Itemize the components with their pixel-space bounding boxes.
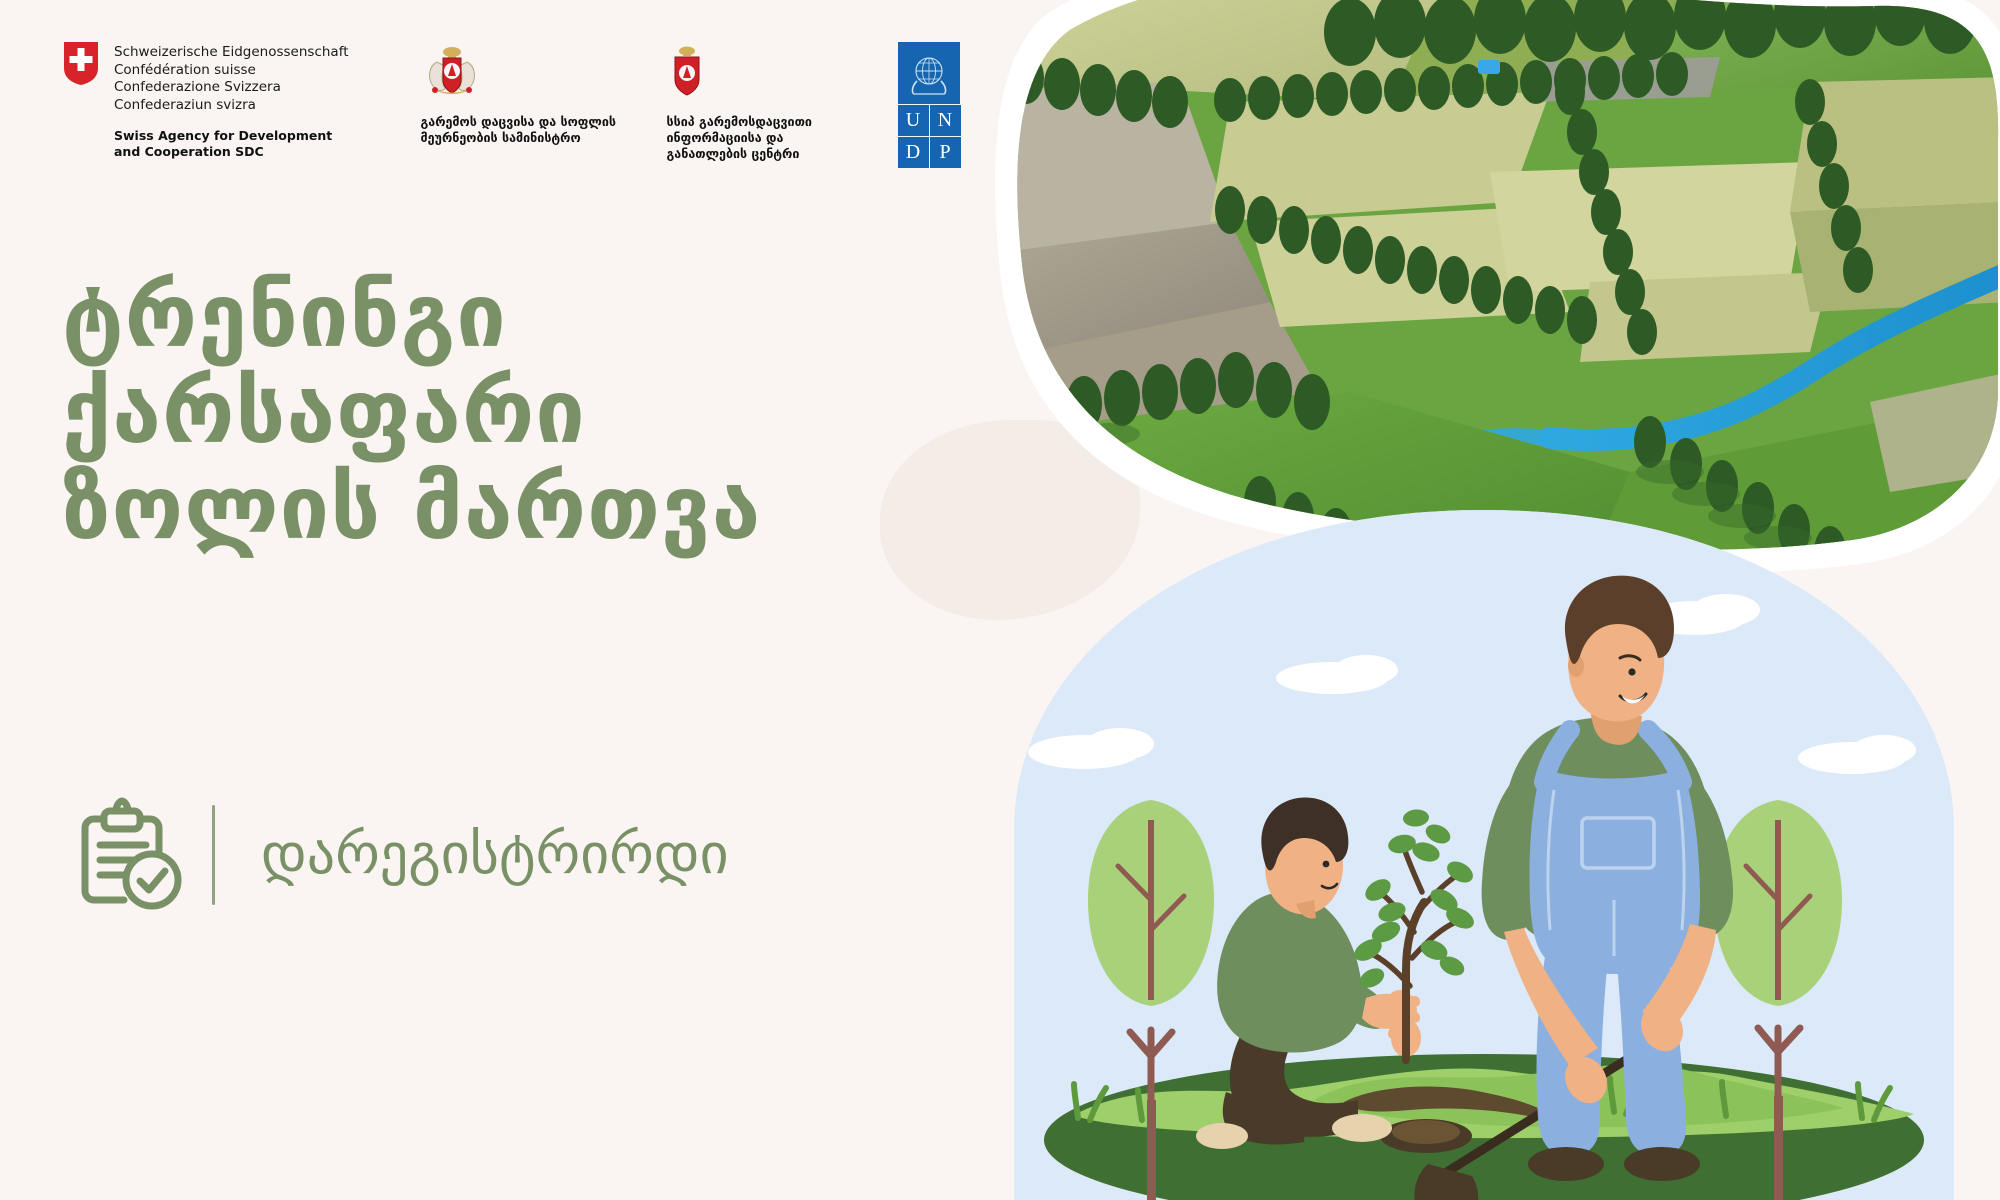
env-caption-line-3: განათლების ცენტრი <box>667 146 852 162</box>
undp-letter-u: U <box>898 105 929 136</box>
swiss-lang-it: Confederazione Svizzera <box>114 79 349 97</box>
logo-georgia-ministry: გარემოს დაცვისა და სოფლის მეურნეობის სამ… <box>421 40 621 146</box>
swiss-lang-de: Schweizerische Eidgenossenschaft <box>114 44 349 62</box>
logo-bar: Schweizerische Eidgenossenschaft Confédé… <box>62 40 960 168</box>
poster-root: Schweizerische Eidgenossenschaft Confédé… <box>0 0 2000 1200</box>
ministry-caption-line-2: მეურნეობის სამინისტრო <box>421 130 621 146</box>
undp-letter-d: D <box>898 137 929 168</box>
swiss-flag-shield-icon <box>62 40 100 86</box>
tree-planting-illustration <box>1014 500 1974 1200</box>
logo-swiss-sdc: Schweizerische Eidgenossenschaft Confédé… <box>62 40 349 159</box>
env-caption-line-1: სსიპ გარემოსდაცვითი <box>667 114 852 130</box>
georgia-ministry-caption: გარემოს დაცვისა და სოფლის მეურნეობის სამ… <box>421 114 621 146</box>
register-divider <box>212 805 215 905</box>
swiss-agency-line-1: Swiss Agency for Development <box>114 128 349 144</box>
swiss-agency-line-2: and Cooperation SDC <box>114 144 349 160</box>
headline-line-3: ზოლის მართვა <box>62 460 761 556</box>
headline-line-1: ტრენინგი <box>62 268 761 364</box>
register-label[interactable]: დარეგისტრირდი <box>261 825 729 885</box>
env-center-caption: სსიპ გარემოსდაცვითი ინფორმაციისა და განა… <box>667 114 852 162</box>
register-cta[interactable]: დარეგისტრირდი <box>66 795 729 915</box>
clipboard-check-icon <box>66 795 186 915</box>
env-caption-line-2: ინფორმაციისა და <box>667 130 852 146</box>
ministry-caption-line-1: გარემოს დაცვისა და სოფლის <box>421 114 621 130</box>
logo-environmental-info-center: სსიპ გარემოსდაცვითი ინფორმაციისა და განა… <box>667 40 852 162</box>
swiss-lang-rm: Confederaziun svizra <box>114 97 349 115</box>
georgia-small-crest-icon <box>667 40 852 102</box>
page-title: ტრენინგი ქარსაფარი ზოლის მართვა <box>62 268 761 556</box>
georgia-coat-of-arms-icon <box>421 40 621 102</box>
illustration-clip <box>1014 500 1974 1200</box>
swiss-text-block: Schweizerische Eidgenossenschaft Confédé… <box>114 40 349 159</box>
swiss-lang-fr: Confédération suisse <box>114 62 349 80</box>
headline-line-2: ქარსაფარი <box>62 364 761 460</box>
